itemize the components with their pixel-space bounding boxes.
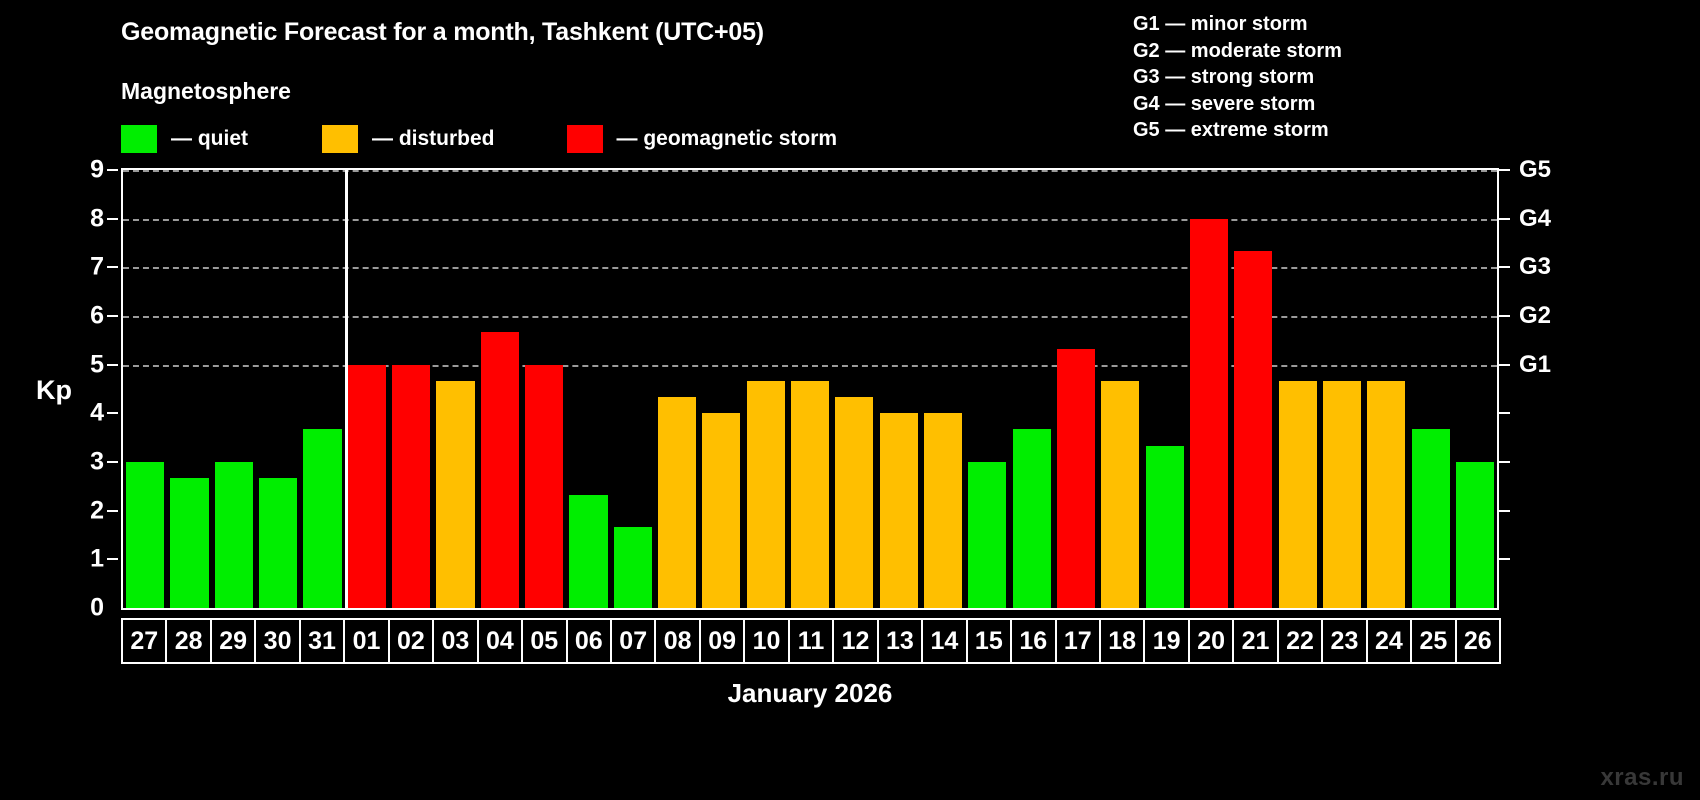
legend-item-storm: — geomagnetic storm <box>567 125 838 153</box>
bar-slot[interactable] <box>433 170 477 608</box>
day-label-cell[interactable]: 24 <box>1366 618 1412 664</box>
orange-swatch-icon <box>322 125 358 153</box>
bar-slot[interactable] <box>1187 170 1231 608</box>
bar-slot[interactable] <box>1409 170 1453 608</box>
chart-plot-area <box>121 168 1499 610</box>
y-tick-label: 4 <box>90 399 104 428</box>
bar-slot[interactable] <box>212 170 256 608</box>
bar[interactable] <box>658 397 696 608</box>
legend-item-label: — disturbed <box>372 127 495 151</box>
bar-slot[interactable] <box>877 170 921 608</box>
legend-item-label: — quiet <box>171 127 248 151</box>
bar[interactable] <box>525 365 563 608</box>
legend: — quiet — disturbed — geomagnetic storm <box>121 123 837 155</box>
day-label-cell[interactable]: 03 <box>432 618 478 664</box>
day-label-cell[interactable]: 10 <box>743 618 789 664</box>
day-label-cell[interactable]: 16 <box>1010 618 1056 664</box>
y-tick-label: 2 <box>90 496 104 525</box>
bar[interactable] <box>835 397 873 608</box>
y-tick-label: 9 <box>90 156 104 185</box>
day-label-cell[interactable]: 23 <box>1321 618 1367 664</box>
x-axis-title: January 2026 <box>121 678 1499 709</box>
g-tick-mark-minor <box>1499 412 1510 414</box>
y-tick-mark <box>107 364 118 366</box>
bar-slot[interactable] <box>1010 170 1054 608</box>
y-axis-title: Kp <box>36 375 72 406</box>
bar[interactable] <box>436 381 474 608</box>
day-label-cell[interactable]: 02 <box>388 618 434 664</box>
bar[interactable] <box>968 462 1006 608</box>
bar[interactable] <box>1057 349 1095 608</box>
bar[interactable] <box>1234 251 1272 608</box>
day-label-cell[interactable]: 06 <box>566 618 612 664</box>
day-label-cell[interactable]: 25 <box>1410 618 1456 664</box>
bar[interactable] <box>481 332 519 608</box>
watermark: xras.ru <box>1600 764 1684 792</box>
g-scale-axis: G1G2G3G4G5 <box>1499 168 1589 610</box>
g-tick-label: G4 <box>1519 205 1551 233</box>
bar[interactable] <box>880 413 918 608</box>
y-tick-label: 8 <box>90 204 104 233</box>
y-tick-mark <box>107 558 118 560</box>
g-tick-mark-minor <box>1499 510 1510 512</box>
day-label-cell[interactable]: 07 <box>610 618 656 664</box>
bar[interactable] <box>1367 381 1405 608</box>
day-label-cell[interactable]: 21 <box>1232 618 1278 664</box>
y-tick-label: 7 <box>90 253 104 282</box>
y-tick-mark <box>107 412 118 414</box>
bar[interactable] <box>215 462 253 608</box>
y-tick-label: 6 <box>90 302 104 331</box>
bar[interactable] <box>1279 381 1317 608</box>
bar[interactable] <box>126 462 164 608</box>
bar[interactable] <box>392 365 430 608</box>
bar[interactable] <box>1190 219 1228 608</box>
y-tick-mark <box>107 315 118 317</box>
bar-slot[interactable] <box>256 170 300 608</box>
y-tick-label: 3 <box>90 448 104 477</box>
bar-slot[interactable] <box>123 170 167 608</box>
g-tick-mark <box>1499 364 1510 366</box>
day-label-cell[interactable]: 04 <box>477 618 523 664</box>
legend-item-quiet: — quiet <box>121 125 248 153</box>
page-title: Geomagnetic Forecast for a month, Tashke… <box>121 18 764 47</box>
day-label-cell[interactable]: 14 <box>921 618 967 664</box>
day-label-cell[interactable]: 17 <box>1055 618 1101 664</box>
g-tick-label: G1 <box>1519 351 1551 379</box>
bar[interactable] <box>569 495 607 608</box>
g-scale-line-g4: G4 — severe storm <box>1133 91 1342 118</box>
day-label-cell[interactable]: 26 <box>1455 618 1501 664</box>
bar[interactable] <box>1146 446 1184 608</box>
bar-slot[interactable] <box>1143 170 1187 608</box>
day-label-cell[interactable]: 15 <box>966 618 1012 664</box>
bar-slot[interactable] <box>167 170 211 608</box>
day-label-cell[interactable]: 19 <box>1143 618 1189 664</box>
bar[interactable] <box>702 413 740 608</box>
day-label-cell[interactable]: 22 <box>1277 618 1323 664</box>
bar[interactable] <box>747 381 785 608</box>
bar-slot[interactable] <box>522 170 566 608</box>
g-tick-label: G2 <box>1519 302 1551 330</box>
g-scale-line-g3: G3 — strong storm <box>1133 64 1342 91</box>
day-label-cell[interactable]: 05 <box>521 618 567 664</box>
g-tick-mark <box>1499 315 1510 317</box>
g-tick-label: G3 <box>1519 253 1551 281</box>
bar[interactable] <box>303 429 341 608</box>
bar-series <box>123 170 1497 608</box>
bar-slot[interactable] <box>1054 170 1098 608</box>
bar[interactable] <box>1456 462 1494 608</box>
day-label-cell[interactable]: 29 <box>210 618 256 664</box>
g-tick-mark <box>1499 266 1510 268</box>
bar-slot[interactable] <box>478 170 522 608</box>
day-label-cell[interactable]: 27 <box>121 618 167 664</box>
bar[interactable] <box>791 381 829 608</box>
bar[interactable] <box>1101 381 1139 608</box>
day-label-cell[interactable]: 01 <box>343 618 389 664</box>
y-tick-label: 1 <box>90 545 104 574</box>
bar-slot[interactable] <box>921 170 965 608</box>
forecast-divider <box>345 170 348 608</box>
bar-slot[interactable] <box>965 170 1009 608</box>
bar[interactable] <box>1412 429 1450 608</box>
legend-item-label: — geomagnetic storm <box>617 127 838 151</box>
bar[interactable] <box>1323 381 1361 608</box>
day-label-cell[interactable]: 31 <box>299 618 345 664</box>
bar-slot[interactable] <box>1320 170 1364 608</box>
bar[interactable] <box>1013 429 1051 608</box>
g-tick-mark-minor <box>1499 558 1510 560</box>
bar-slot[interactable] <box>300 170 344 608</box>
g-tick-mark <box>1499 169 1510 171</box>
bar-slot[interactable] <box>1276 170 1320 608</box>
day-label-cell[interactable]: 20 <box>1188 618 1234 664</box>
day-label-cell[interactable]: 13 <box>877 618 923 664</box>
bar-slot[interactable] <box>655 170 699 608</box>
bar-slot[interactable] <box>1453 170 1497 608</box>
y-tick-mark <box>107 461 118 463</box>
y-tick-mark <box>107 266 118 268</box>
day-label-cell[interactable]: 08 <box>654 618 700 664</box>
bar-slot[interactable] <box>611 170 655 608</box>
bar-slot[interactable] <box>345 170 389 608</box>
g-tick-mark-minor <box>1499 461 1510 463</box>
g-scale-line-g2: G2 — moderate storm <box>1133 38 1342 65</box>
bar-slot[interactable] <box>1098 170 1142 608</box>
bar-slot[interactable] <box>699 170 743 608</box>
bar-slot[interactable] <box>788 170 832 608</box>
g-scale-legend: G1 — minor storm G2 — moderate storm G3 … <box>1133 11 1342 144</box>
red-swatch-icon <box>567 125 603 153</box>
bar[interactable] <box>348 365 386 608</box>
bar[interactable] <box>924 413 962 608</box>
g-scale-line-g5: G5 — extreme storm <box>1133 117 1342 144</box>
bar[interactable] <box>614 527 652 608</box>
legend-heading: Magnetosphere <box>121 78 291 105</box>
bar-slot[interactable] <box>832 170 876 608</box>
bar-slot[interactable] <box>1231 170 1275 608</box>
bar-slot[interactable] <box>744 170 788 608</box>
day-label-cell[interactable]: 12 <box>832 618 878 664</box>
day-label-cell[interactable]: 18 <box>1099 618 1145 664</box>
bar-slot[interactable] <box>566 170 610 608</box>
day-label-cell[interactable]: 09 <box>699 618 745 664</box>
legend-item-disturbed: — disturbed <box>322 125 495 153</box>
y-tick-mark <box>107 510 118 512</box>
day-label-cell[interactable]: 30 <box>254 618 300 664</box>
g-scale-line-g1: G1 — minor storm <box>1133 11 1342 38</box>
bar-slot[interactable] <box>389 170 433 608</box>
bar[interactable] <box>170 478 208 608</box>
y-tick-label: 0 <box>90 594 104 623</box>
g-tick-label: G5 <box>1519 156 1551 184</box>
y-tick-mark <box>107 218 118 220</box>
g-tick-mark <box>1499 218 1510 220</box>
y-tick-label: 5 <box>90 350 104 379</box>
day-label-cell[interactable]: 28 <box>165 618 211 664</box>
x-axis-day-labels: 2728293031010203040506070809101112131415… <box>121 618 1499 664</box>
green-swatch-icon <box>121 125 157 153</box>
y-tick-mark <box>107 169 118 171</box>
day-label-cell[interactable]: 11 <box>788 618 834 664</box>
bar-slot[interactable] <box>1364 170 1408 608</box>
bar[interactable] <box>259 478 297 608</box>
